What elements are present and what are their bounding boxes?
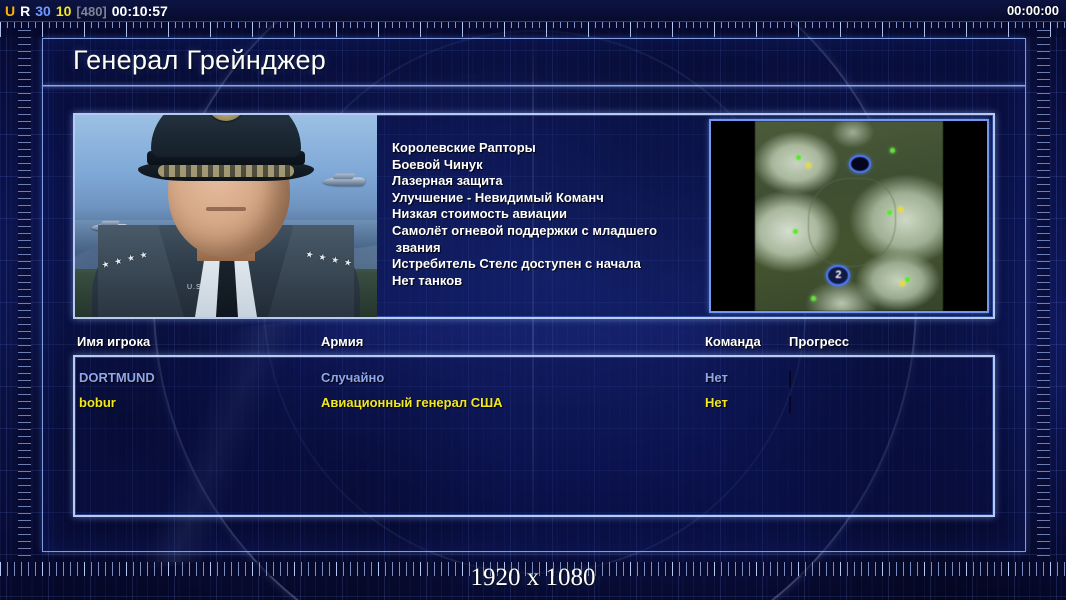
progress-bar (789, 396, 791, 413)
player-team[interactable]: Нет (705, 395, 728, 410)
bonus-line: Низкая стоимость авиации (392, 206, 705, 223)
title-divider (43, 85, 1025, 87)
main-frame: Генерал Грейнджер ★★★★ ★★★★ (42, 38, 1026, 552)
player-team[interactable]: Нет (705, 370, 728, 385)
general-figure: ★★★★ ★★★★ U.S. (75, 115, 377, 317)
map-start-spot (890, 148, 895, 153)
ruler-right (1037, 30, 1050, 560)
column-header-army: Армия (321, 334, 363, 349)
table-row[interactable]: bobur Авиационный генерал США Нет (75, 390, 993, 414)
player-name: bobur (79, 395, 116, 410)
page-title: Генерал Грейнджер (73, 45, 326, 76)
bonus-line: звания (392, 240, 705, 257)
resolution-overlay: 1920 x 1080 (0, 564, 1066, 592)
map-road (808, 178, 896, 267)
general-bonus-list: Королевские Рапторы Боевой Чинук Лазерна… (377, 115, 705, 317)
status-value-blue: 30 (35, 4, 51, 18)
bonus-line: Королевские Рапторы (392, 140, 705, 157)
bonus-line: Самолёт огневой поддержки с младшего (392, 223, 705, 240)
map-preview[interactable]: 2 (709, 119, 989, 313)
cap-scrambled-eggs (158, 165, 294, 177)
ruler-top (0, 22, 1066, 37)
uniform-badge: U.S. (187, 284, 205, 291)
map-start-spot (905, 277, 910, 282)
column-header-team: Команда (705, 334, 761, 349)
map-player-marker-empty[interactable] (849, 155, 871, 173)
map-start-spot (793, 229, 798, 234)
status-prefix-r: R (20, 4, 30, 18)
ruler-left (18, 30, 31, 560)
progress-bar (789, 371, 791, 388)
map-start-spot (887, 210, 892, 215)
general-portrait: ★★★★ ★★★★ U.S. (75, 115, 377, 317)
bonus-line: Улучшение - Невидимый Команч (392, 190, 705, 207)
player-list-panel: DORTMUND Случайно Нет bobur Авиационный … (73, 355, 995, 517)
map-start-spot (796, 155, 801, 160)
map-start-spot (898, 207, 903, 212)
general-info-panel: ★★★★ ★★★★ U.S. (73, 113, 995, 319)
map-player-marker-2[interactable]: 2 (826, 265, 850, 286)
status-bracket-value: [480] (76, 5, 106, 18)
bonus-line: Нет танков (392, 273, 705, 290)
general-mouth (206, 207, 246, 211)
bonus-line: Лазерная защита (392, 173, 705, 190)
player-army[interactable]: Случайно (321, 370, 384, 385)
player-progress (789, 372, 979, 383)
map-terrain: 2 (755, 121, 943, 311)
map-start-spot (806, 163, 811, 168)
player-progress (789, 397, 979, 408)
bonus-line: Истребитель Стелс доступен с начала (392, 256, 705, 273)
status-prefix-u: U (5, 4, 15, 18)
map-preview-container[interactable]: 2 (705, 115, 993, 317)
player-army[interactable]: Авиационный генерал США (321, 395, 503, 410)
player-name: DORTMUND (79, 370, 155, 385)
player-list-headers: Имя игрока Армия Команда Прогресс (73, 334, 995, 352)
top-status-left: UR 30 10[480] 00:10:57 (0, 4, 168, 18)
status-clock: 00:00:00 (1007, 3, 1066, 18)
map-start-spot (811, 296, 816, 301)
status-elapsed-time: 00:10:57 (112, 4, 168, 18)
top-status-bar: UR 30 10[480] 00:10:57 00:00:00 (0, 0, 1066, 22)
table-row[interactable]: DORTMUND Случайно Нет (75, 365, 993, 389)
column-header-progress: Прогресс (789, 334, 849, 349)
status-value-yellow: 10 (56, 4, 72, 18)
cap-crown (151, 115, 301, 157)
bonus-line: Боевой Чинук (392, 157, 705, 174)
map-start-spot (900, 281, 905, 286)
game-lobby-screen: UR 30 10[480] 00:10:57 00:00:00 Генерал … (0, 0, 1066, 600)
column-header-name: Имя игрока (77, 334, 150, 349)
